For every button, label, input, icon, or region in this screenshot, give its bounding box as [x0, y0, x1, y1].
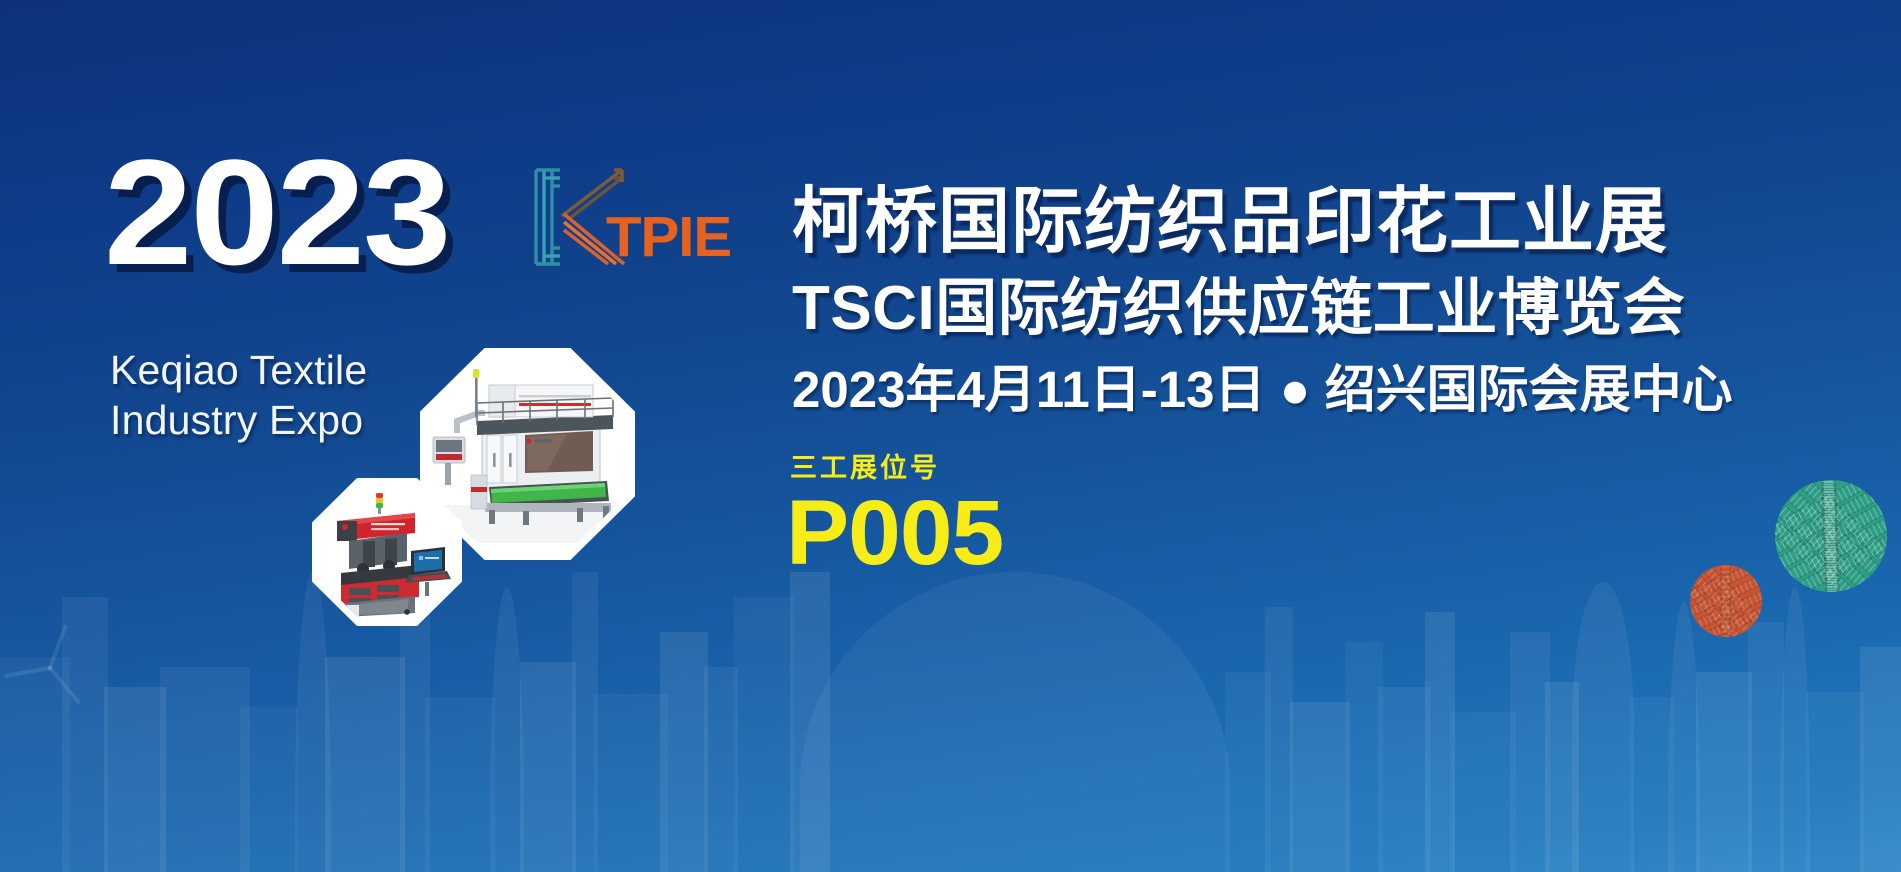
expo-banner: 2023 Keqiao Textile Industry Expo [0, 0, 1901, 872]
date-venue-chinese: 2023年4月11日-13日 ● 绍兴国际会展中心 [792, 364, 1733, 415]
english-title: Keqiao Textile Industry Expo [110, 345, 440, 445]
booth-number: P005 [786, 487, 1003, 579]
year-heading: 2023 [104, 137, 449, 287]
dome-building-silhouette [800, 572, 1230, 872]
booth-label: 三工展位号 [790, 455, 940, 482]
ktpie-logo: TPIE [526, 162, 766, 272]
headline-chinese: 柯桥国际纺织品印花工业展 [792, 186, 1668, 258]
yarn-ball-orange-icon [1690, 565, 1762, 637]
yarn-ball-green-icon [1775, 480, 1887, 592]
subheadline-chinese: TSCI国际纺织供应链工业博览会 [792, 278, 1685, 340]
photo-frame-laser-marking-machine [312, 478, 462, 626]
ktpie-wordmark: TPIE [606, 204, 731, 270]
laser-marking-machine-photo [319, 485, 455, 619]
